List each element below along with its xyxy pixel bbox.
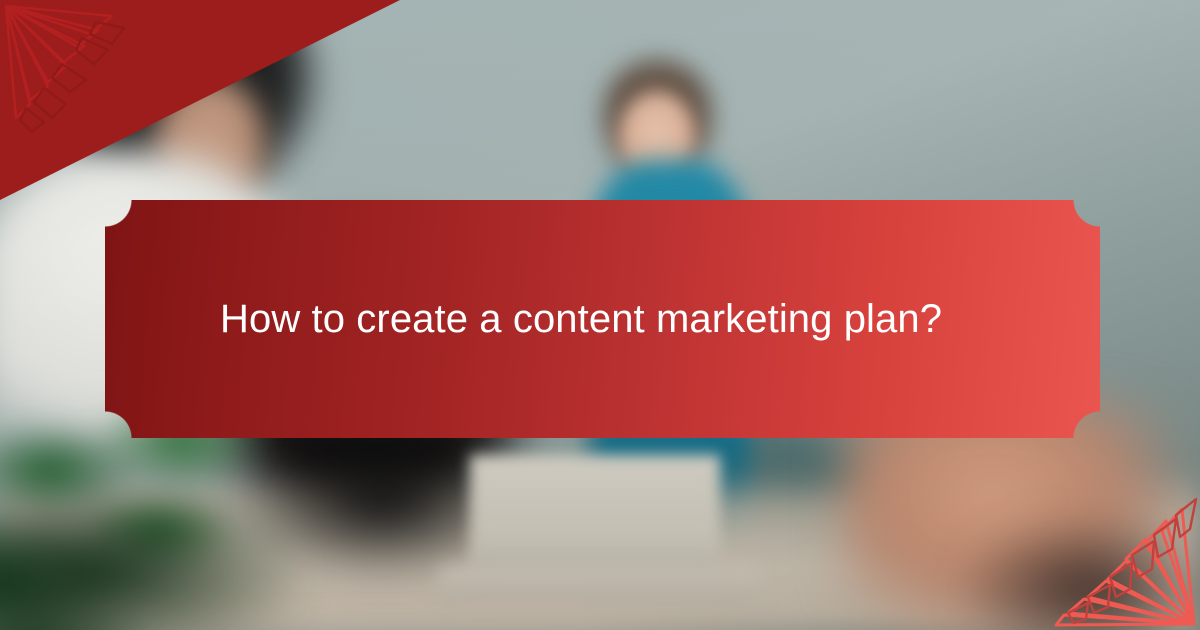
title-banner: How to create a content marketing plan? xyxy=(105,200,1100,438)
hero-card: How to create a content marketing plan? xyxy=(0,0,1200,630)
page-title: How to create a content marketing plan? xyxy=(105,294,1022,344)
